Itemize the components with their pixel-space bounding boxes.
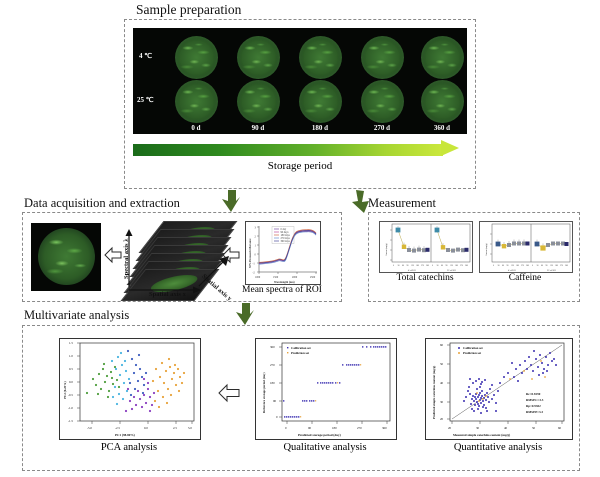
arrow-to-multivariate [236,303,260,327]
storage-period-label: Storage period [133,160,467,172]
caffeine-caption: Caffeine [479,273,571,283]
svg-text:3: 3 [255,227,257,230]
spectral-axis-label: Spectral axis λ [123,239,130,279]
svg-text:-2.5: -2.5 [115,426,120,430]
svg-text:0.0: 0.0 [69,380,73,384]
svg-text:270: 270 [270,363,275,367]
svg-text:180: 180 [270,381,275,385]
caffeine-chart: 03060 90120180 270360 03060 90120180 270… [479,221,573,273]
svg-text:40: 40 [504,426,508,430]
quantitative-caption: Quantitative analysis [425,442,571,453]
block-arrow-icon [223,247,241,263]
svg-text:0: 0 [393,265,394,267]
storage-period-arrow-head [441,140,459,156]
temperature-label-25c: 25 ℃ [137,96,154,104]
sample-disc [299,80,342,123]
section-title-measurement: Measurement [368,196,436,211]
svg-text:90: 90 [308,426,312,430]
section-title-multivariate: Multivariate analysis [24,308,129,323]
svg-text:-0.5: -0.5 [68,393,73,397]
data-acquisition-panel: Spectral axis λ Spatial axis x Spatial a… [22,212,342,302]
day-label: 180 d [300,124,340,132]
svg-text:SNV-Processed reflectance: SNV-Processed reflectance [249,238,252,268]
sample-disc [361,36,404,79]
svg-text:Measured simple catechins cont: Measured simple catechins content (mg/g) [453,433,510,437]
svg-text:PC1 (98.80%): PC1 (98.80%) [115,433,135,437]
day-label: 360 d [422,124,462,132]
qualitative-chart: Calibration set Prediction set 360270180… [255,338,397,440]
sample-disc [237,80,280,123]
sample-disc [175,36,218,79]
day-label: 0 d [176,124,216,132]
svg-text:0: 0 [255,254,257,257]
svg-text:360: 360 [426,265,429,267]
quantitative-chart: Calibration set Prediction set 605040 30… [425,338,573,440]
sample-disc [175,80,218,123]
svg-text:30: 30 [398,265,400,267]
sample-disc [361,80,404,123]
day-label: 270 d [362,124,402,132]
svg-text:2500: 2500 [310,276,316,279]
svg-text:120: 120 [511,265,514,267]
svg-text:-5.0: -5.0 [87,426,92,430]
svg-text:1500: 1500 [273,276,279,279]
svg-text:Prediction set: Prediction set [463,351,482,355]
svg-text:180: 180 [555,265,558,267]
svg-text:20: 20 [440,417,444,421]
svg-text:180: 180 [516,265,519,267]
svg-text:60: 60 [558,426,562,430]
svg-text:60: 60 [502,265,504,267]
svg-text:Wavelength (nm): Wavelength (nm) [274,281,295,284]
svg-text:Content (mg/g): Content (mg/g) [485,243,488,256]
svg-text:0: 0 [276,415,278,419]
arrow-to-data-acquisition [222,190,246,214]
total-catechins-caption: Total catechins [379,273,471,283]
svg-text:40: 40 [440,381,444,385]
svg-text:360: 360 [270,345,275,349]
svg-text:Rp=0.9302: Rp=0.9302 [526,404,541,408]
svg-text:RMSEC=3.3: RMSEC=3.3 [526,398,544,402]
sample-photo-strip: 4 ℃ 25 ℃ 0 d 90 d 180 d 270 d 360 d [133,28,467,134]
svg-text:270: 270 [521,265,524,267]
roi-disc [38,228,95,285]
pca-caption: PCA analysis [59,442,199,453]
svg-text:30: 30 [498,265,500,267]
svg-text:2000: 2000 [292,276,298,279]
qualitative-caption: Qualitative analysis [255,442,395,453]
storage-period-arrow [133,142,467,158]
pca-chart: 1.51.00.5 0.0-0.5-1.0 -1.5 -5.0-2.50.0 2… [59,338,201,440]
svg-text:1.0: 1.0 [69,354,73,358]
svg-text:RMSEP=3.3: RMSEP=3.3 [526,410,543,414]
svg-text:30: 30 [440,400,444,404]
sample-disc [421,36,464,79]
svg-text:360 days: 360 days [281,240,290,243]
svg-text:0.5: 0.5 [69,367,73,371]
svg-text:90: 90 [273,399,277,403]
svg-text:270: 270 [357,426,362,430]
svg-text:270: 270 [421,265,424,267]
svg-text:30: 30 [537,265,539,267]
svg-text:PC2 (0.25%): PC2 (0.25%) [63,381,67,399]
svg-text:-1.5: -1.5 [68,419,73,423]
svg-text:0: 0 [432,265,433,267]
section-title-sample-preparation: Sample preparation [136,2,241,18]
svg-text:270: 270 [560,265,563,267]
svg-text:60: 60 [541,265,543,267]
svg-text:Content (mg/g): Content (mg/g) [385,243,388,256]
svg-text:1.5: 1.5 [69,341,73,345]
svg-text:Predicted storage period (day): Predicted storage period (day) [298,433,341,437]
block-arrow-icon [105,247,123,263]
storage-period-arrow-body [133,144,443,156]
sample-disc [421,80,464,123]
section-title-data-acquisition: Data acquisition and extraction [24,196,180,211]
svg-text:120: 120 [411,265,414,267]
svg-text:30: 30 [437,265,439,267]
svg-text:180: 180 [455,265,458,267]
svg-text:-1.0: -1.0 [68,406,73,410]
svg-text:25 \u2103: 25 \u2103 [547,270,557,272]
block-arrow-icon [219,384,241,402]
sample-disc [299,36,342,79]
svg-text:1000: 1000 [255,276,261,279]
mean-spectra-caption: Mean spectra of ROI [229,285,335,295]
svg-text:Prediction set: Prediction set [291,351,310,355]
svg-text:50: 50 [532,426,536,430]
svg-text:5.0: 5.0 [188,426,192,430]
svg-text:4 \u2103: 4 \u2103 [408,270,417,272]
svg-text:Calibration set: Calibration set [463,346,484,350]
svg-text:2: 2 [255,236,257,239]
svg-text:360: 360 [465,265,468,267]
spatial-x-label: Spatial axis x [149,291,186,298]
svg-text:4 \u2103: 4 \u2103 [508,270,517,272]
mean-spectra-chart: 0 day 90 days 180 days 270 days 360 days… [245,221,321,285]
svg-text:Reference storage period (day): Reference storage period (day) [262,372,266,413]
multivariate-panel: 1.51.00.5 0.0-0.5-1.0 -1.5 -5.0-2.50.0 2… [22,325,580,471]
svg-text:90: 90 [507,265,509,267]
measurement-panel: 03060 90120180 270360 03060 90120180 270… [368,212,580,302]
svg-text:180: 180 [332,426,337,430]
total-catechins-chart: 03060 90120180 270360 03060 90120180 270… [379,221,473,273]
sample-disc [237,36,280,79]
sample-preparation-panel: 4 ℃ 25 ℃ 0 d 90 d 180 d 270 d 360 d Stor… [124,19,476,189]
svg-text:-2: -2 [253,272,256,275]
svg-text:20: 20 [448,426,452,430]
svg-text:0: 0 [532,265,533,267]
svg-text:90: 90 [446,265,448,267]
svg-text:360: 360 [526,265,529,267]
svg-text:1: 1 [255,245,257,248]
svg-text:60: 60 [402,265,404,267]
svg-text:25 \u2103: 25 \u2103 [447,270,457,272]
svg-text:60: 60 [440,343,444,347]
svg-text:0: 0 [285,426,287,430]
svg-text:120: 120 [450,265,453,267]
svg-text:30: 30 [476,426,480,430]
day-label: 90 d [238,124,278,132]
svg-text:180: 180 [416,265,419,267]
svg-text:90: 90 [546,265,548,267]
roi-sample-image [31,223,101,291]
svg-text:90: 90 [407,265,409,267]
svg-text:270: 270 [460,265,463,267]
svg-text:60: 60 [441,265,443,267]
svg-text:360: 360 [565,265,568,267]
svg-text:0.0: 0.0 [144,426,148,430]
svg-text:Predicted simple catechins con: Predicted simple catechins content (mg/g… [432,366,436,419]
svg-text:-1: -1 [253,263,256,266]
svg-text:Rc=0.9290: Rc=0.9290 [526,392,541,396]
svg-text:Calibration set: Calibration set [291,346,312,350]
svg-text:50: 50 [440,362,444,366]
svg-text:120: 120 [550,265,553,267]
temperature-label-4c: 4 ℃ [139,52,152,60]
svg-text:0: 0 [493,265,494,267]
svg-text:2.5: 2.5 [173,426,177,430]
svg-text:360: 360 [382,426,387,430]
